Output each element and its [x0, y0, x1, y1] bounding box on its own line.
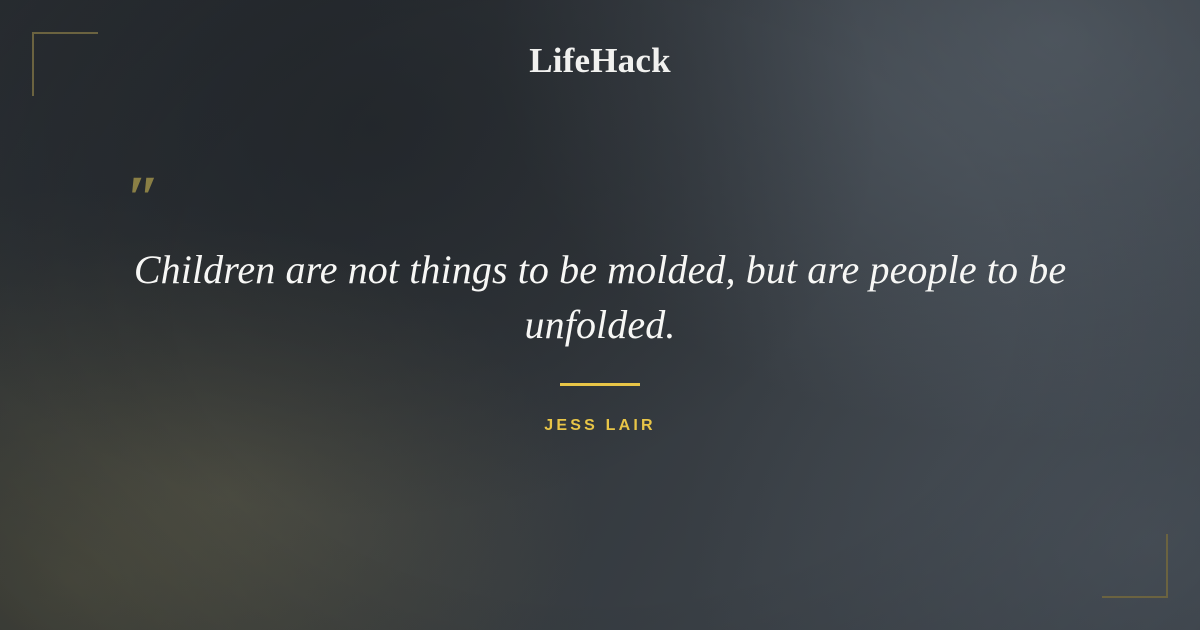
quote-author: JESS LAIR: [0, 417, 1200, 435]
attribution-divider: [560, 383, 640, 386]
quote-card: LifeHack ″ Children are not things to be…: [0, 0, 1200, 630]
brand-logo: LifeHack: [0, 40, 1200, 82]
corner-bracket-bottom-right-icon: [1102, 534, 1168, 598]
quote-text: Children are not things to be molded, bu…: [120, 242, 1080, 352]
quotation-mark-icon: ″: [126, 168, 158, 230]
